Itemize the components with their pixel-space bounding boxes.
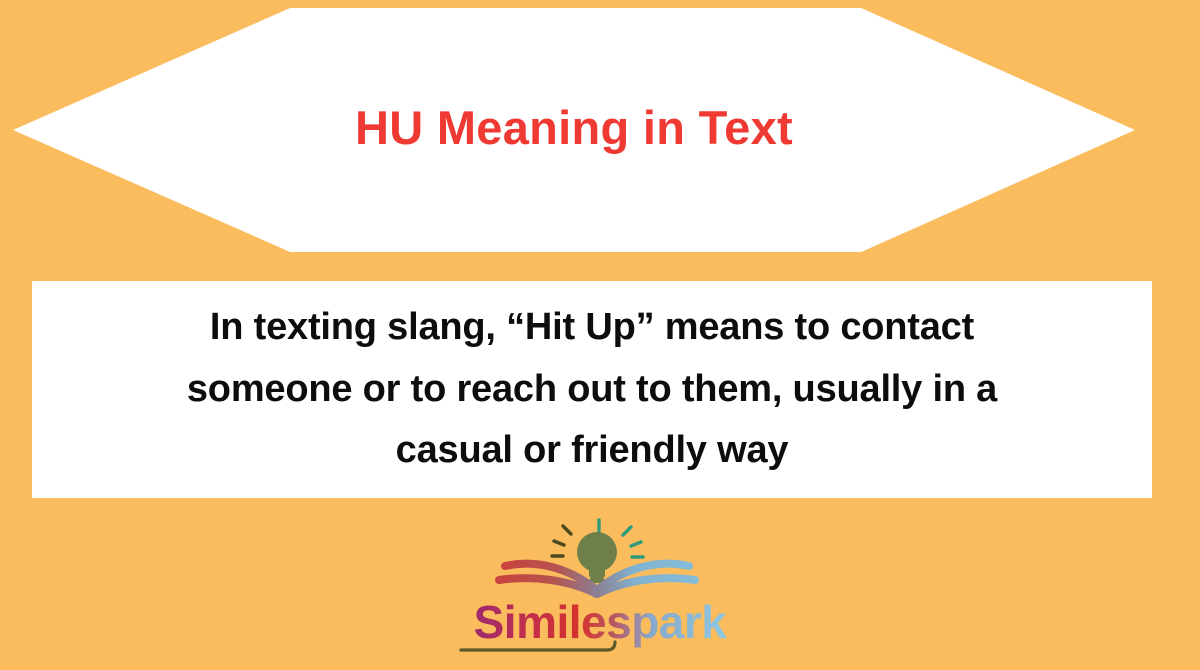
definition-line-1: In texting slang, “Hit Up” means to cont… [210,306,974,348]
lightbulb-over-open-book-icon [485,518,715,598]
brand-logo: Similespark [0,518,1200,670]
definition-text: In texting slang, “Hit Up” means to cont… [187,297,997,482]
brand-wordmark: Similespark [455,594,745,656]
definition-line-3: casual or friendly way [396,429,789,471]
book-left-page [499,564,597,594]
poster-canvas: HU Meaning in Text In texting slang, “Hi… [0,0,1200,670]
lightbulb-glyph [577,532,617,583]
lightbulb-ray-left-group [552,526,571,556]
brand-name-text: Similespark [474,596,728,648]
book-right-page [597,564,695,594]
hexagon-title-banner: HU Meaning in Text [13,8,1135,252]
definition-card: In texting slang, “Hit Up” means to cont… [32,281,1152,498]
definition-line-2: someone or to reach out to them, usually… [187,368,997,410]
page-title: HU Meaning in Text [355,102,793,154]
